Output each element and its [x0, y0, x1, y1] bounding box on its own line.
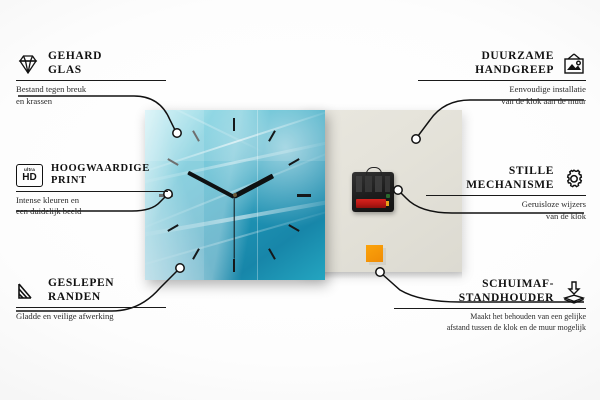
callout-title-line2: GLAS: [48, 64, 102, 78]
callout-desc-line2: afstand tussen de klok en de muur mogeli…: [394, 323, 586, 334]
callout-desc-line1: Eenvoudige installatie: [418, 84, 586, 95]
callout-title-line1: HOOGWAARDIGE: [51, 163, 150, 175]
clock-tick: [288, 224, 299, 232]
callout-divider: [418, 80, 586, 81]
callout-hoogwaardige-print: ultra HD HOOGWAARDIGE PRINT Intense kleu…: [16, 163, 168, 218]
callout-title-line2: HANDGREEP: [475, 64, 554, 78]
callout-schuimafstandhouder: SCHUIMAF- STANDHOUDER Maakt het behouden…: [394, 278, 586, 333]
mechanism-indicator: [386, 194, 390, 198]
beveled-edges-icon: [16, 279, 40, 303]
callout-title-line2: MECHANISME: [466, 179, 554, 193]
clock-hour-hand: [233, 174, 274, 199]
callout-title-line2: PRINT: [51, 175, 150, 187]
clock-tick: [233, 259, 235, 272]
mechanism-hanger-icon: [366, 167, 382, 175]
callout-title-line2: RANDEN: [48, 291, 114, 305]
clock-face: [145, 110, 325, 280]
callout-desc-line2: en krassen: [16, 96, 166, 107]
callout-desc-line2: van de klok aan de muur: [418, 96, 586, 107]
callout-desc-line1: Geruisloze wijzers: [426, 199, 586, 210]
callout-desc-line1: Maakt het behouden van een gelijke: [394, 312, 586, 323]
clock-mechanism: [352, 172, 394, 212]
callout-desc-line1: Gladde en veilige afwerking: [16, 311, 166, 322]
callout-divider: [16, 191, 168, 192]
callout-divider: [426, 195, 586, 196]
callout-stille-mechanisme: STILLE MECHANISME Geruisloze wijzers van…: [426, 165, 586, 222]
ultra-hd-icon: ultra HD: [16, 164, 43, 187]
callout-geslepen-randen: GESLEPEN RANDEN Gladde en veilige afwerk…: [16, 277, 166, 323]
clock-second-hand: [233, 196, 234, 258]
diamond-icon: [16, 52, 40, 76]
callout-title-line1: SCHUIMAF-: [459, 278, 554, 292]
callout-divider: [394, 308, 586, 309]
framed-picture-icon: [562, 52, 586, 76]
callout-title-line1: GEHARD: [48, 50, 102, 64]
callout-desc-line1: Intense kleuren en: [16, 195, 168, 206]
callout-title-line1: GESLEPEN: [48, 277, 114, 291]
callout-gehard-glas: GEHARD GLAS Bestand tegen breuk en krass…: [16, 50, 166, 107]
callout-divider: [16, 80, 166, 81]
callout-desc-line1: Bestand tegen breuk: [16, 84, 166, 95]
clock-tick: [233, 118, 235, 131]
clock-center-pin: [233, 193, 237, 197]
callout-title-line1: STILLE: [466, 165, 554, 179]
gear-icon: [562, 167, 586, 191]
callout-desc-line2: van de klok: [426, 211, 586, 222]
clock-tick: [297, 194, 311, 197]
callout-title-line1: DUURZAME: [475, 50, 554, 64]
ultra-hd-icon-large-text: HD: [22, 173, 36, 183]
callout-duurzame-handgreep: DUURZAME HANDGREEP Eenvoudige installati…: [418, 50, 586, 107]
infographic-canvas: GEHARD GLAS Bestand tegen breuk en krass…: [0, 0, 600, 400]
callout-desc-line2: een duidelijk beeld: [16, 206, 168, 217]
foam-spacer-icon: [562, 280, 586, 304]
battery: [356, 199, 386, 208]
callout-divider: [16, 307, 166, 308]
callout-title-line2: STANDHOUDER: [459, 292, 554, 306]
clock-tick: [268, 248, 276, 259]
foam-spacer: [366, 245, 383, 262]
mechanism-housing: [356, 176, 390, 192]
